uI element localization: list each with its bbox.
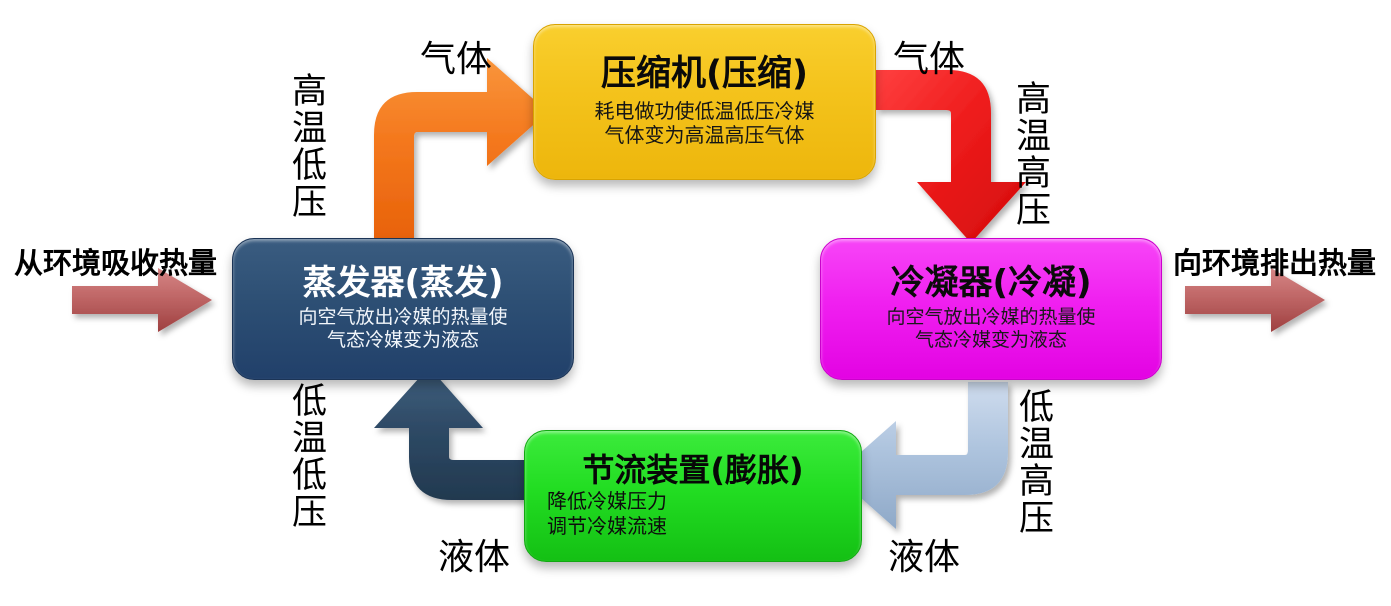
compressor-box: 压缩机(压缩) 耗电做功使低温低压冷媒 气体变为高温高压气体 — [533, 24, 876, 180]
label-reject-heat: 向环境排出热量 — [1173, 240, 1376, 282]
label-low-temp-low-pressure: 低温低压 — [288, 382, 323, 530]
label-high-temp-high-pressure: 高温高压 — [1012, 80, 1047, 228]
compressor-title: 压缩机(压缩) — [601, 56, 808, 93]
throttle-device-box: 节流装置(膨胀) 降低冷媒压力 调节冷媒流速 — [524, 430, 862, 562]
throttle-device-description: 降低冷媒压力 调节冷媒流速 — [547, 489, 667, 538]
evaporator-description: 向空气放出冷媒的热量使 气态冷媒变为液态 — [298, 306, 507, 352]
label-gas-left: 气体 — [420, 30, 492, 82]
condenser-box: 冷凝器(冷凝) 向空气放出冷媒的热量使 气态冷媒变为液态 — [820, 238, 1162, 380]
red-arrow — [876, 70, 1026, 243]
orange-arrow — [374, 58, 548, 240]
label-gas-right: 气体 — [893, 30, 965, 82]
refrigeration-cycle-diagram: 压缩机(压缩) 耗电做功使低温低压冷媒 气体变为高温高压气体 蒸发器(蒸发) 向… — [0, 0, 1391, 606]
condenser-description: 向空气放出冷媒的热量使 气态冷媒变为液态 — [886, 306, 1095, 352]
condenser-title: 冷凝器(冷凝) — [890, 266, 1091, 302]
label-liquid-right: 液体 — [888, 528, 960, 580]
label-low-temp-high-pressure: 低温高压 — [1015, 388, 1050, 536]
label-absorb-heat: 从环境吸收热量 — [14, 240, 217, 282]
navy-arrow — [374, 367, 524, 500]
compressor-description: 耗电做功使低温低压冷媒 气体变为高温高压气体 — [595, 99, 815, 148]
label-high-temp-low-pressure: 高温低压 — [288, 72, 323, 220]
label-liquid-left: 液体 — [438, 528, 510, 580]
evaporator-box: 蒸发器(蒸发) 向空气放出冷媒的热量使 气态冷媒变为液态 — [232, 238, 574, 380]
throttle-device-title: 节流装置(膨胀) — [582, 454, 803, 488]
evaporator-title: 蒸发器(蒸发) — [302, 266, 503, 302]
